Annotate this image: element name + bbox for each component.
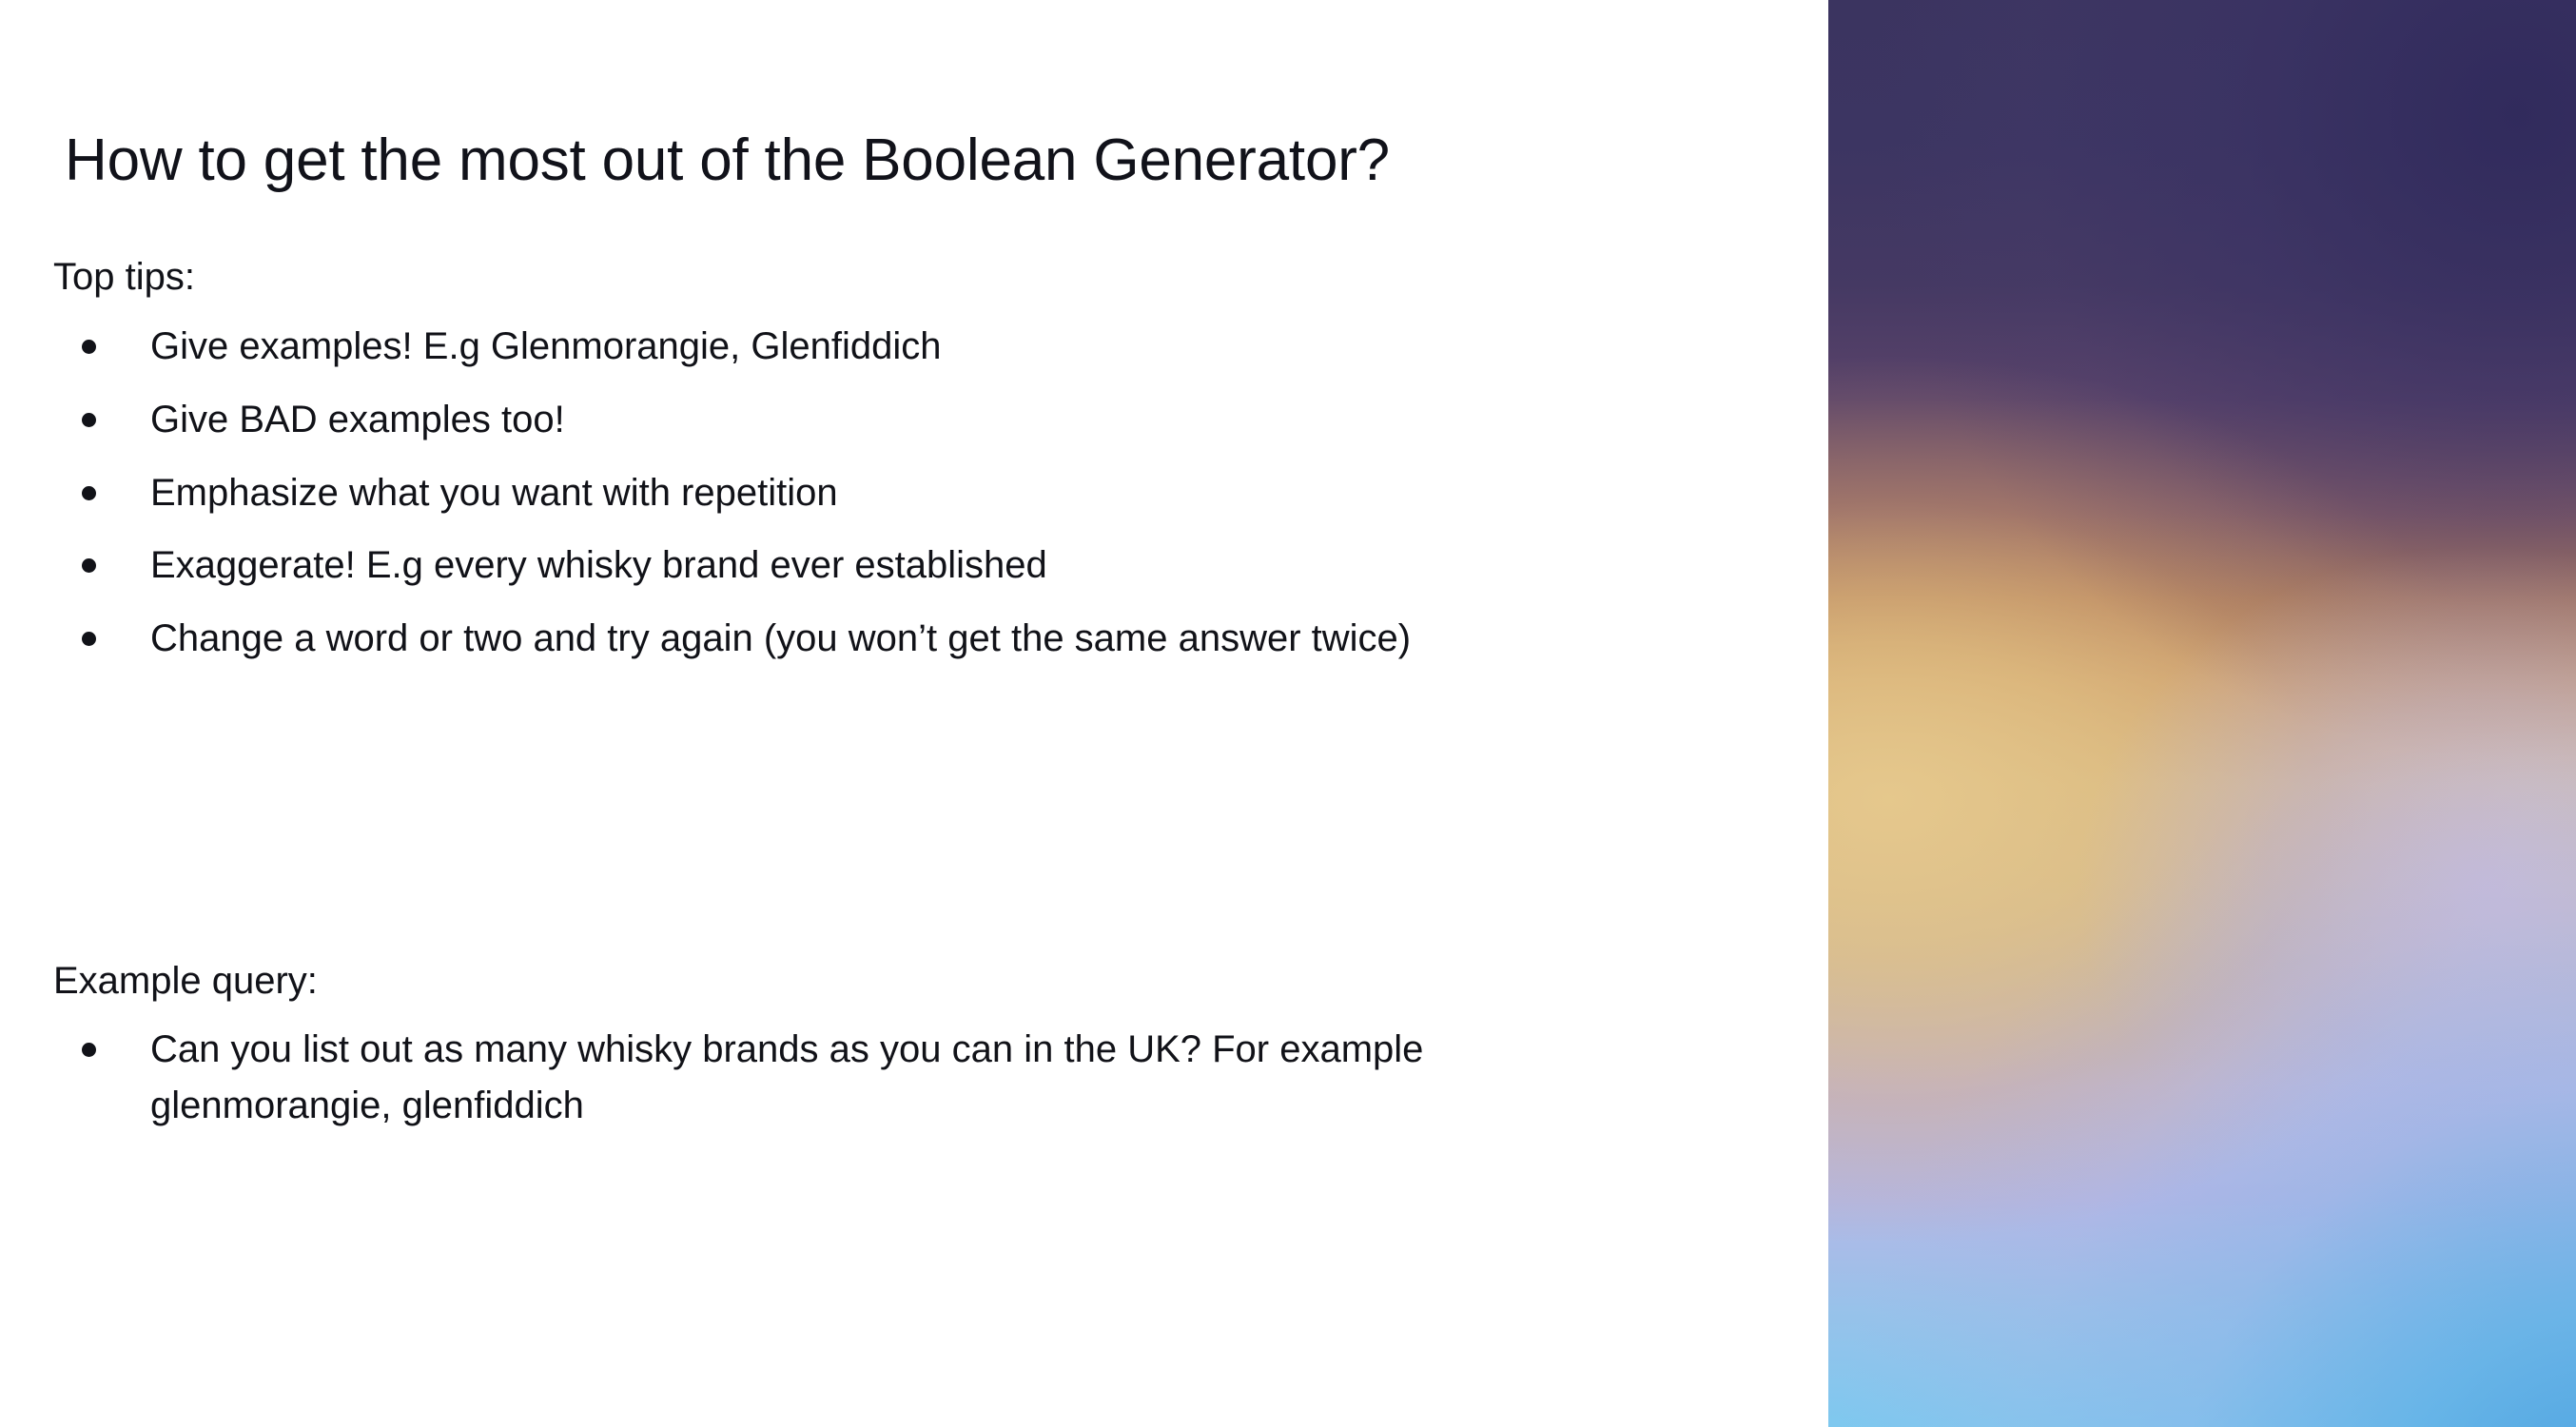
list-item-label: Give examples! E.g Glenmorangie, Glenfid… (150, 325, 942, 367)
list-item: Can you list out as many whisky brands a… (53, 1022, 1509, 1134)
list-item-label: Change a word or two and try again (you … (150, 617, 1411, 659)
list-item-label: Emphasize what you want with repetition (150, 472, 838, 514)
list-item: Emphasize what you want with repetition (53, 464, 1766, 522)
slide-text-column: How to get the most out of the Boolean G… (0, 0, 1828, 1427)
list-item-label: Exaggerate! E.g every whisky brand ever … (150, 544, 1047, 586)
example-query-section: Example query: Can you list out as many … (53, 953, 1509, 1134)
list-item: Exaggerate! E.g every whisky brand ever … (53, 537, 1766, 595)
bullet-dot-icon (82, 486, 96, 500)
list-item-label: Give BAD examples too! (150, 399, 565, 440)
list-item: Give BAD examples too! (53, 391, 1766, 449)
top-tips-list: Give examples! E.g Glenmorangie, Glenfid… (53, 318, 1766, 668)
bullet-dot-icon (82, 1043, 96, 1057)
list-item-label: Can you list out as many whisky brands a… (150, 1028, 1423, 1126)
bullet-dot-icon (82, 558, 96, 573)
list-item: Give examples! E.g Glenmorangie, Glenfid… (53, 318, 1766, 376)
slide: How to get the most out of the Boolean G… (0, 0, 2576, 1427)
top-tips-label: Top tips: (53, 249, 1766, 304)
page-title: How to get the most out of the Boolean G… (65, 126, 1748, 195)
example-query-label: Example query: (53, 953, 1509, 1008)
list-item: Change a word or two and try again (you … (53, 610, 1766, 668)
bullet-dot-icon (82, 413, 96, 427)
bullet-dot-icon (82, 632, 96, 646)
abstract-sunset-gradient-image (1828, 0, 2576, 1427)
gradient-cool-blue-layer (1828, 0, 2576, 1427)
top-tips-section: Top tips: Give examples! E.g Glenmorangi… (53, 249, 1766, 683)
bullet-dot-icon (82, 340, 96, 354)
example-query-list: Can you list out as many whisky brands a… (53, 1022, 1509, 1134)
